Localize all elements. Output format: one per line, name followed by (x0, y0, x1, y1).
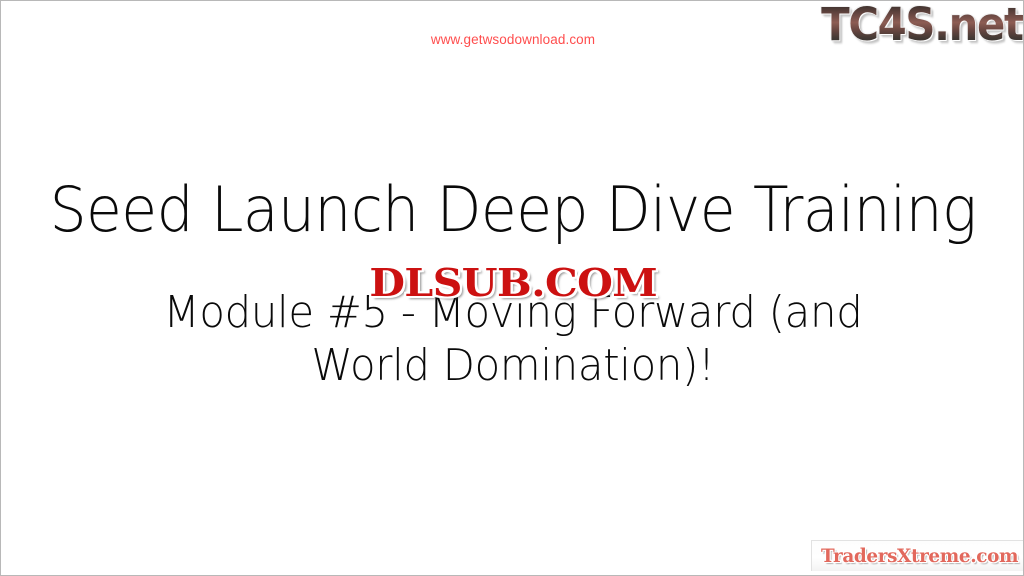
slide-title: Seed Launch Deep Dive Training (32, 173, 995, 246)
tradersxtreme-logo-text: TradersXtreme.com (821, 541, 1018, 571)
slide-subtitle-line-1: Module #5 - Moving Forward (and (27, 286, 1000, 339)
tc4s-logo-text: TC4S.net (822, 0, 1023, 51)
slide-subtitle: Module #5 - Moving Forward (and World Do… (27, 286, 1000, 392)
presentation-slide: www.getwsodownload.com TC4S.net Seed Lau… (0, 0, 1024, 576)
tradersxtreme-logo-watermark: TradersXtreme.com (811, 540, 1023, 571)
slide-subtitle-line-2: World Domination)! (27, 339, 1000, 392)
tc4s-logo-watermark: TC4S.net (822, 0, 1023, 51)
